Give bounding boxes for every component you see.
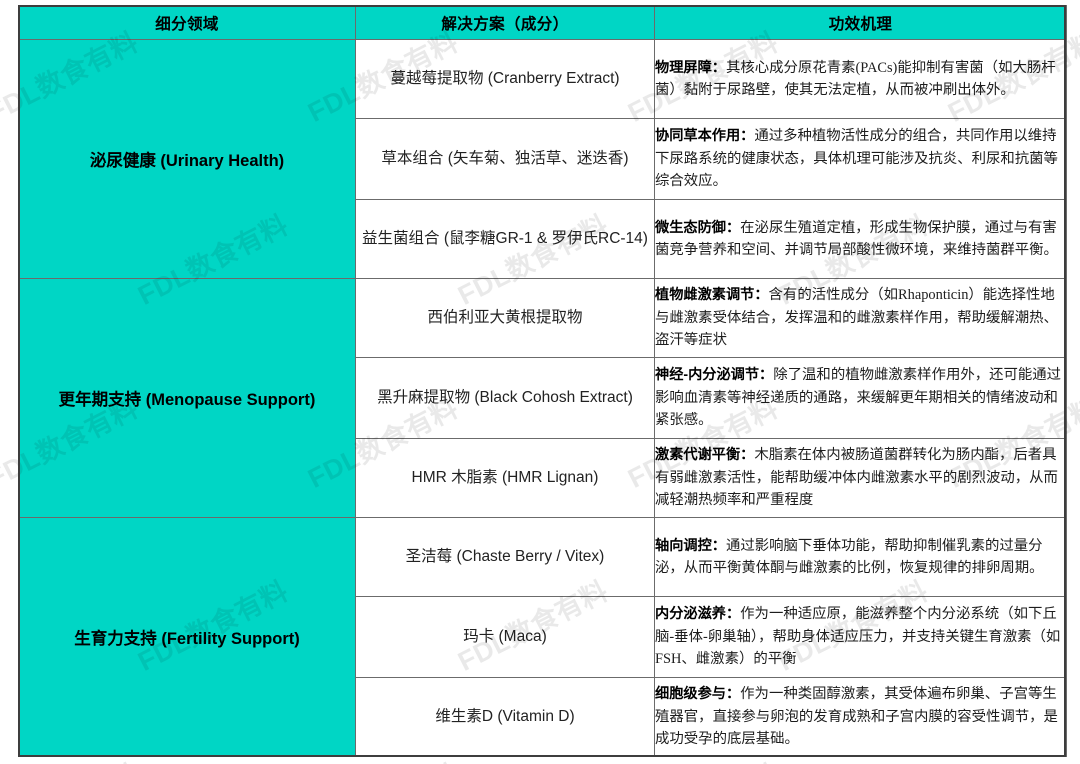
mechanism-separator: ： <box>726 686 740 702</box>
table-page: 细分领域 解决方案（成分） 功效机理 泌尿健康 (Urinary Health)… <box>0 0 1080 764</box>
mechanism-cell: 内分泌滋养：作为一种适应原，能滋养整个内分泌系统（如下丘脑-垂体-卵巢轴），帮助… <box>655 597 1067 678</box>
mechanism-separator: ： <box>740 128 754 144</box>
mechanism-cell: 植物雌激素调节：含有的活性成分（如Rhaponticin）能选择性地与雌激素受体… <box>655 279 1067 358</box>
category-cell-menopause-support: 更年期支持 (Menopause Support) <box>19 279 356 518</box>
efficacy-mechanism-table: 细分领域 解决方案（成分） 功效机理 泌尿健康 (Urinary Health)… <box>18 5 1067 757</box>
solution-cell: 维生素D (Vitamin D) <box>356 678 655 757</box>
solution-cell: 西伯利亚大黄根提取物 <box>356 279 655 358</box>
solution-cell: 黑升麻提取物 (Black Cohosh Extract) <box>356 358 655 439</box>
category-cell-fertility-support: 生育力支持 (Fertility Support) <box>19 518 356 757</box>
mechanism-lead: 细胞级参与 <box>655 686 726 702</box>
table-row: 更年期支持 (Menopause Support) 西伯利亚大黄根提取物 植物雌… <box>19 279 1067 358</box>
mechanism-cell: 物理屏障：其核心成分原花青素(PACs)能抑制有害菌（如大肠杆菌）黏附于尿路壁，… <box>655 40 1067 119</box>
mechanism-separator: ： <box>740 447 754 463</box>
mechanism-cell: 激素代谢平衡：木脂素在体内被肠道菌群转化为肠内酯，后者具有弱雌激素活性，能帮助缓… <box>655 439 1067 518</box>
solution-cell: 益生菌组合 (鼠李糖GR-1 & 罗伊氏RC-14) <box>356 200 655 279</box>
mechanism-separator: ： <box>726 220 740 236</box>
table-header: 细分领域 解决方案（成分） 功效机理 <box>19 6 1067 40</box>
mechanism-cell: 轴向调控：通过影响脑下垂体功能，帮助抑制催乳素的过量分泌，从而平衡黄体酮与雌激素… <box>655 518 1067 597</box>
solution-cell: 草本组合 (矢车菊、独活草、迷迭香) <box>356 119 655 200</box>
column-header-mechanism: 功效机理 <box>655 6 1067 40</box>
mechanism-lead: 轴向调控 <box>655 538 712 554</box>
mechanism-lead: 内分泌滋养 <box>655 606 726 622</box>
mechanism-lead: 植物雌激素调节 <box>655 287 754 303</box>
table-row: 生育力支持 (Fertility Support) 圣洁莓 (Chaste Be… <box>19 518 1067 597</box>
mechanism-separator: ： <box>712 538 726 554</box>
mechanism-separator: ： <box>759 367 773 383</box>
mechanism-lead: 物理屏障 <box>655 60 712 76</box>
column-header-solution: 解决方案（成分） <box>356 6 655 40</box>
mechanism-cell: 神经-内分泌调节：除了温和的植物雌激素样作用外，还可能通过影响血清素等神经递质的… <box>655 358 1067 439</box>
mechanism-lead: 微生态防御 <box>655 220 726 236</box>
solution-cell: 玛卡 (Maca) <box>356 597 655 678</box>
mechanism-separator: ： <box>754 287 768 303</box>
table-row: 泌尿健康 (Urinary Health) 蔓越莓提取物 (Cranberry … <box>19 40 1067 119</box>
solution-cell: HMR 木脂素 (HMR Lignan) <box>356 439 655 518</box>
category-cell-urinary-health: 泌尿健康 (Urinary Health) <box>19 40 356 279</box>
mechanism-separator: ： <box>712 60 726 76</box>
mechanism-separator: ： <box>726 606 740 622</box>
table-body: 泌尿健康 (Urinary Health) 蔓越莓提取物 (Cranberry … <box>19 40 1067 757</box>
mechanism-lead: 协同草本作用 <box>655 128 740 144</box>
header-row: 细分领域 解决方案（成分） 功效机理 <box>19 6 1067 40</box>
mechanism-cell: 微生态防御：在泌尿生殖道定植，形成生物保护膜，通过与有害菌竞争营养和空间、并调节… <box>655 200 1067 279</box>
column-header-segment: 细分领域 <box>19 6 356 40</box>
solution-cell: 蔓越莓提取物 (Cranberry Extract) <box>356 40 655 119</box>
mechanism-cell: 协同草本作用：通过多种植物活性成分的组合，共同作用以维持下尿路系统的健康状态，具… <box>655 119 1067 200</box>
mechanism-lead: 神经-内分泌调节 <box>655 367 759 383</box>
solution-cell: 圣洁莓 (Chaste Berry / Vitex) <box>356 518 655 597</box>
mechanism-lead: 激素代谢平衡 <box>655 447 740 463</box>
mechanism-cell: 细胞级参与：作为一种类固醇激素，其受体遍布卵巢、子宫等生殖器官，直接参与卵泡的发… <box>655 678 1067 757</box>
